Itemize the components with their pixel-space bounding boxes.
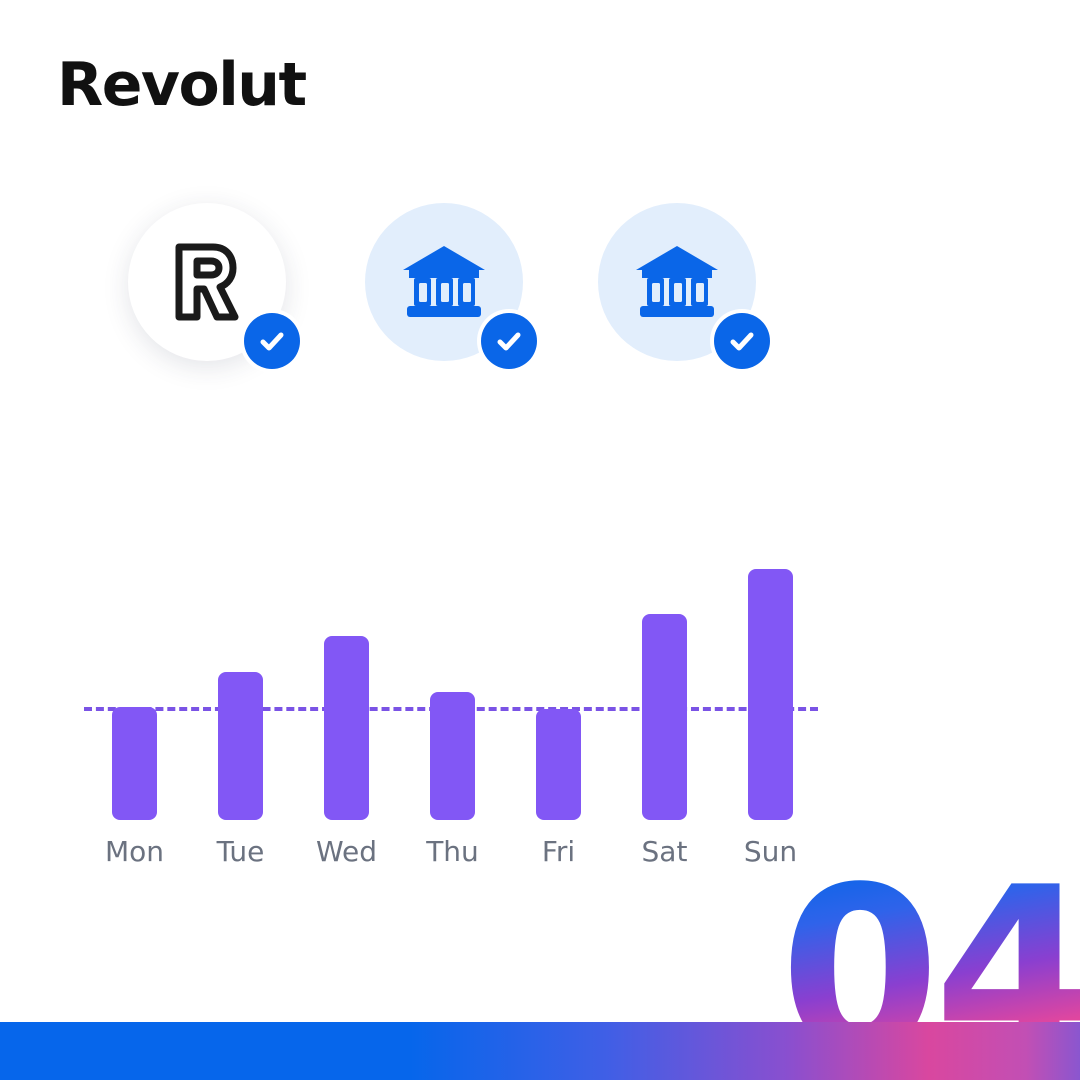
- verified-badge: [477, 309, 541, 373]
- account-item-bank-1[interactable]: [365, 203, 523, 361]
- chart-bar[interactable]: [536, 709, 581, 820]
- chart-bar[interactable]: [218, 672, 263, 820]
- chart-plot-area: [84, 556, 818, 820]
- verified-badge: [240, 309, 304, 373]
- verified-badge-fill: [714, 313, 770, 369]
- check-icon: [726, 325, 758, 357]
- chart-bar[interactable]: [642, 614, 687, 820]
- account-item-bank-2[interactable]: [598, 203, 756, 361]
- chart-bar[interactable]: [112, 707, 157, 820]
- chart-x-tick-label: Wed: [287, 838, 407, 866]
- linked-accounts-row: [0, 203, 1080, 383]
- chart-x-tick-label: Sat: [605, 838, 725, 866]
- weekly-spending-chart: MonTueWedThuFriSatSun: [84, 556, 818, 886]
- chart-x-axis: MonTueWedThuFriSatSun: [84, 838, 818, 878]
- chart-x-tick-label: Mon: [75, 838, 195, 866]
- bank-icon: [634, 244, 720, 320]
- check-icon: [256, 325, 288, 357]
- chart-x-tick-label: Fri: [499, 838, 619, 866]
- revolut-r-icon: [169, 241, 245, 323]
- verified-badge-fill: [481, 313, 537, 369]
- chart-bar[interactable]: [748, 569, 793, 820]
- chart-bar[interactable]: [324, 636, 369, 820]
- slide-canvas: Revolut: [0, 0, 1080, 1080]
- chart-bar[interactable]: [430, 692, 475, 820]
- brand-wordmark: Revolut: [57, 55, 306, 115]
- footer-gradient-bar: [0, 1022, 1080, 1080]
- check-icon: [493, 325, 525, 357]
- account-item-revolut[interactable]: [128, 203, 286, 361]
- verified-badge: [710, 309, 774, 373]
- chart-x-tick-label: Tue: [181, 838, 301, 866]
- verified-badge-fill: [244, 313, 300, 369]
- chart-x-tick-label: Thu: [393, 838, 513, 866]
- bank-icon: [401, 244, 487, 320]
